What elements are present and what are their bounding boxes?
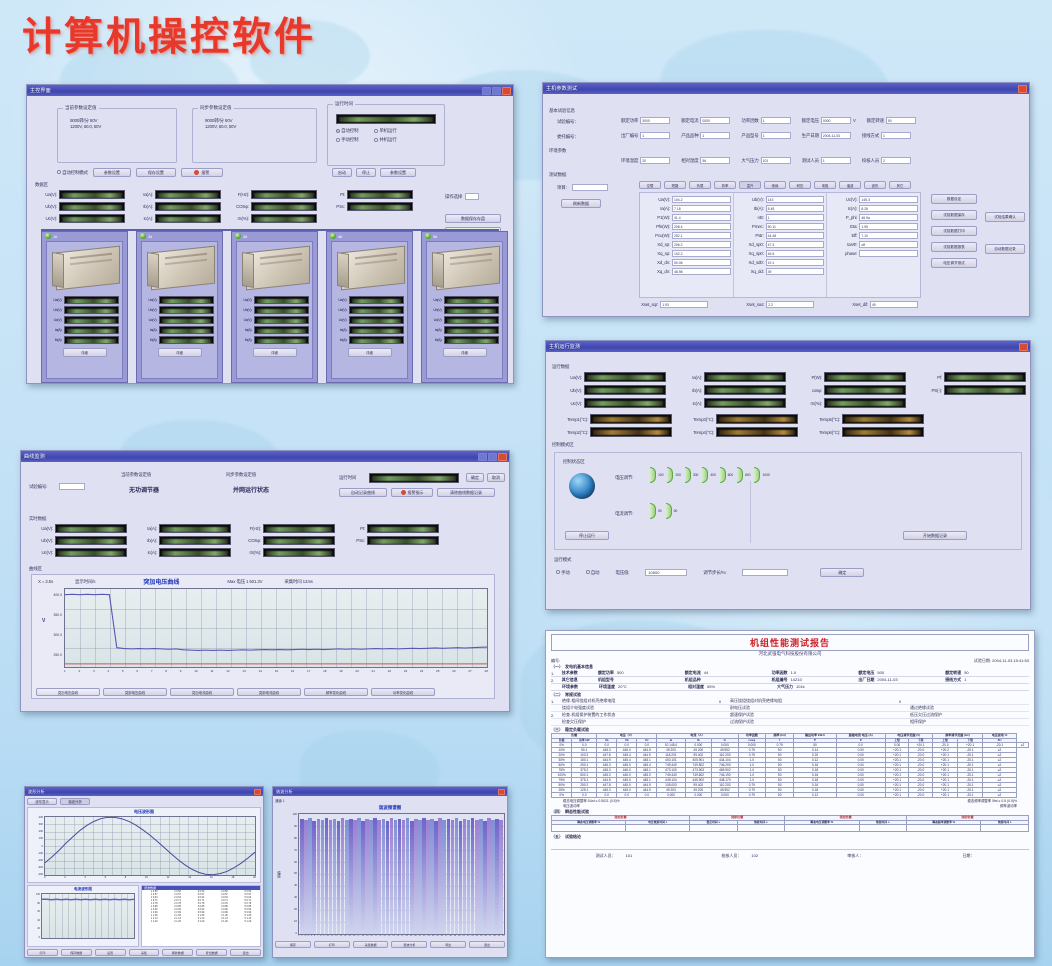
table-cell: 0.000 xyxy=(657,793,685,798)
data-label: Xq_sp: xyxy=(642,251,670,256)
channel-input[interactable] xyxy=(59,483,85,490)
unit-readout-row: Ub(V): xyxy=(430,306,499,314)
readout-column: Ua(V):Ub(V):Uc(V): xyxy=(556,372,666,408)
data-value[interactable]: 47.3 xyxy=(766,241,825,248)
data-value[interactable]: 7.10 xyxy=(859,232,918,239)
cell-value: 44 xyxy=(704,670,708,676)
waveform-button[interactable]: 刷新数据 xyxy=(162,949,193,956)
data-value[interactable]: 50.06 xyxy=(672,259,731,266)
table-cell: 1 1.20 xyxy=(143,920,165,923)
unit-readout-row: Ib(A): xyxy=(430,336,499,344)
alarm-button[interactable]: 报警 xyxy=(181,168,223,177)
radio-manual-control[interactable]: 手动控制 xyxy=(336,137,358,143)
report-row: 绕组介电强度试验耐电压试验通过绝缘试验 xyxy=(551,705,1029,712)
signature-label: 测试人员： xyxy=(596,853,616,859)
field-input[interactable]: 0000 xyxy=(821,117,851,124)
report-cell: 机组编号14Z10 xyxy=(772,677,856,683)
current-step-buttons[interactable]: 5060 xyxy=(650,503,677,519)
unit-panel[interactable]: 1#Ua(V):Ub(V):Uc(V):Ia(A):Ib(A):详细 xyxy=(41,231,128,383)
refresh-data-button[interactable]: 刷新数据 xyxy=(561,199,601,208)
readout-lcd xyxy=(584,398,666,408)
start-record-button[interactable]: 开始数据记录 xyxy=(903,531,967,540)
channel-select-row[interactable]: 通道: 1 xyxy=(275,798,505,803)
radio-manual[interactable]: 手动 xyxy=(556,570,570,576)
window-main-control[interactable]: 主控界面 当前参数设定值 9000转/分 50V 1200V, 60.0, 50… xyxy=(26,84,514,384)
unit-detail-button[interactable]: 详细 xyxy=(348,348,392,357)
project-select[interactable] xyxy=(572,184,608,191)
minimize-icon[interactable] xyxy=(478,453,487,461)
step-value: 400 xyxy=(710,473,715,477)
readout-row: F(Hz): xyxy=(231,190,317,199)
data-value[interactable]: 143 xyxy=(766,196,825,203)
operation-select[interactable] xyxy=(465,193,479,200)
action-button[interactable]: 数据设定 xyxy=(931,194,977,204)
stop-button[interactable]: 停止 xyxy=(356,168,376,177)
readout-column: Ia(A):Ib(A):Ic(A): xyxy=(137,524,231,557)
radio-icon[interactable] xyxy=(374,138,378,142)
readout-lcd xyxy=(944,372,1026,382)
footer-value[interactable]: 2.2 xyxy=(766,301,814,308)
window-title: 主控界面 xyxy=(30,87,482,94)
field-input[interactable]: 101 xyxy=(761,157,791,164)
readout-label: Ib(A): xyxy=(137,538,157,543)
x-tick: 16 xyxy=(353,935,355,937)
action-button[interactable]: 电压调节测试 xyxy=(931,258,977,268)
tab-harmonic[interactable]: 谐波分析 xyxy=(60,798,90,805)
test-tab[interactable]: 绝缘 xyxy=(764,181,786,189)
unit-readout-row: Ib(A): xyxy=(50,336,119,344)
bar xyxy=(390,818,394,934)
readout-row: Pt: xyxy=(327,190,413,199)
test-tab-strip[interactable]: 空载短路负载效率温升绝缘耐压电阻谐波波形其它 xyxy=(639,181,911,189)
y-tick: 40 xyxy=(283,884,297,887)
field-group: 额定电流0000 xyxy=(681,117,730,124)
set-a-label: 当前参数设定值 xyxy=(121,472,151,478)
data-value[interactable]: 145.3 xyxy=(859,196,918,203)
cancel-button[interactable]: 取消 xyxy=(487,473,505,482)
bracket-icon[interactable] xyxy=(666,503,672,519)
titlebar-harmonic[interactable]: 谐波分析 xyxy=(273,787,507,796)
bar xyxy=(337,821,341,934)
x-tick: 18 xyxy=(231,876,234,879)
bracket-icon[interactable] xyxy=(754,467,760,483)
chart-y-axis: 4003002001000-100-200-300-400 xyxy=(30,816,44,876)
readout-label: COSφ: xyxy=(231,204,249,209)
checkbox-auto-mode[interactable]: 自动控制模式 xyxy=(57,170,88,176)
harmonic-button[interactable]: 退出 xyxy=(469,941,505,948)
window-run-monitor[interactable]: 主机运行监测 运行数据 Ua(V):Ub(V):Uc(V):Ia(A):Ib(A… xyxy=(545,340,1031,610)
test-tab[interactable]: 温升 xyxy=(739,181,761,189)
test-tab[interactable]: 谐波 xyxy=(839,181,861,189)
step-value: 800 xyxy=(745,473,750,477)
tab-waveform[interactable]: 波形显示 xyxy=(27,798,57,805)
data-row: phase: xyxy=(829,250,918,257)
bracket-icon[interactable] xyxy=(685,467,691,483)
x-tick: 2 xyxy=(301,935,302,937)
status-led-icon xyxy=(425,233,431,239)
field-input[interactable]: 0000 xyxy=(700,117,730,124)
data-row: Ib(A):8.45 xyxy=(736,205,825,212)
secondary-button-column[interactable]: 试验结果确认自动数据记录 xyxy=(985,212,1025,254)
x-tick: 29 xyxy=(410,935,412,937)
data-label: nB: xyxy=(736,215,764,220)
grid-state-label: 并网运行状态 xyxy=(233,485,269,494)
test-tab[interactable]: 波形 xyxy=(864,181,886,189)
radio-icon[interactable] xyxy=(374,129,378,133)
action-button[interactable]: 试验数据报表 xyxy=(931,242,977,252)
unit-panel[interactable]: 5#Ua(V):Ub(V):Uc(V):Ia(A):Ib(A):详细 xyxy=(421,231,508,383)
auto-record-button[interactable]: 自动记录曲线 xyxy=(339,488,387,497)
readout-row: Temp1(°C): xyxy=(556,414,672,424)
data-value[interactable]: 50.11 xyxy=(766,223,825,230)
data-label: Pcu(W): xyxy=(642,233,670,238)
waveform-button[interactable]: 导出数据 xyxy=(196,949,227,956)
test-tab[interactable]: 其它 xyxy=(889,181,911,189)
chart-x-axis: 1234567891011121314151617181920212223242… xyxy=(64,668,488,673)
note-left: 电压波动率 xyxy=(563,803,580,808)
table-cell: 4 1.20 xyxy=(213,920,235,923)
chart-tab-strip[interactable]: 突加电压曲线突卸电压曲线突加电流曲线突卸电流曲线频率变化曲线功率变化曲线 xyxy=(36,688,435,696)
readout-label: P(W): xyxy=(796,375,822,380)
chart-tab[interactable]: 突卸电流曲线 xyxy=(237,688,301,696)
titlebar-curve-monitor[interactable]: 曲线监测 xyxy=(21,451,509,462)
secondary-button[interactable]: 试验结果确认 xyxy=(985,212,1025,222)
data-value[interactable]: 252.1 xyxy=(672,232,731,239)
unit-detail-button[interactable]: 详细 xyxy=(63,348,107,357)
step-control[interactable]: 800 xyxy=(737,467,750,483)
unit-name: 1# xyxy=(53,234,57,239)
action-button-column[interactable]: 数据设定试验数据保存试验数据打印试验数据报表电压调节测试 xyxy=(931,194,977,268)
field-group: 大气压力101 xyxy=(741,157,790,164)
bar xyxy=(426,820,430,934)
chart-xlabel: 显示时间/s xyxy=(75,579,95,585)
x-tick: 7 xyxy=(317,935,318,937)
close-icon[interactable] xyxy=(502,87,511,95)
table-cell: ≤2 xyxy=(983,793,1017,798)
waveform-button-row[interactable]: 打印保存数据设置采集刷新数据导出数据退出 xyxy=(27,949,261,956)
data-value[interactable]: 48.98 xyxy=(672,268,731,275)
section-test-data: 测试数据 xyxy=(549,172,566,178)
close-icon[interactable] xyxy=(498,453,507,461)
window-buttons[interactable] xyxy=(1018,85,1027,93)
window-buttons[interactable] xyxy=(482,87,511,95)
bracket-icon[interactable] xyxy=(650,467,656,483)
table-cell xyxy=(626,825,690,832)
readout-row: Temp3(°C): xyxy=(682,414,798,424)
reset-button[interactable]: 参数设置 xyxy=(380,168,416,177)
x-tick: 7 xyxy=(151,669,153,673)
unit-header: 1# xyxy=(42,232,127,240)
param-button[interactable]: 参数设置 xyxy=(93,168,131,177)
confirm-button[interactable]: 确定 xyxy=(820,568,864,577)
document-test-report[interactable]: 机组性能测试报告 河北武强电气科技股份有限公司 编号: 试验日期: 2004-1… xyxy=(545,630,1035,958)
start-button[interactable]: 启动 xyxy=(332,168,352,177)
ok-button[interactable]: 确定 xyxy=(466,473,484,482)
data-value[interactable]: 8.45 xyxy=(766,205,825,212)
readout-lcd xyxy=(159,536,231,545)
field-input[interactable]: 1 xyxy=(761,117,791,124)
data-value[interactable]: 39 xyxy=(766,268,825,275)
footer-value[interactable]: 1.93 xyxy=(660,301,708,308)
bracket-icon[interactable] xyxy=(650,503,656,519)
field-label: 校核人员 xyxy=(862,158,879,164)
readout-lcd xyxy=(59,190,125,199)
data-value[interactable]: 104.2 xyxy=(672,196,731,203)
radio-auto-control[interactable]: 自动控制 xyxy=(336,128,358,134)
x-tick: 30 xyxy=(414,935,416,937)
harmonic-data-table[interactable]: 谐波数据 1 0.502 0.503 0.504 0.505 0.501 0.5… xyxy=(141,885,261,947)
readout-column: Ua(V):Ub(V):Uc(V): xyxy=(33,524,127,557)
window-buttons[interactable] xyxy=(1019,343,1028,351)
field-label: 额定转速 xyxy=(867,118,884,124)
row-label-3: 通过绝缘试验 xyxy=(910,705,934,711)
maximize-icon[interactable] xyxy=(492,87,501,95)
waveform-button[interactable]: 打印 xyxy=(27,949,58,956)
radio-icon[interactable] xyxy=(336,129,340,133)
field-row-3: 环境温度20相对湿度56大气压力101测试人员1校核人员2 xyxy=(621,157,911,164)
radio-icon[interactable] xyxy=(556,570,560,574)
field-group: 校核人员2 xyxy=(862,157,911,164)
field-group: 额定电压0000V xyxy=(802,117,856,124)
data-value[interactable]: off xyxy=(859,241,918,248)
data-value[interactable]: 8.28 xyxy=(859,205,918,212)
data-value[interactable] xyxy=(859,250,918,257)
field-input[interactable]: 50 xyxy=(886,117,916,124)
voltage-adjust-label: 电压调节: xyxy=(615,475,633,481)
field-input[interactable]: 1 xyxy=(700,132,730,139)
x-tick: 20 xyxy=(370,935,372,937)
row-label-3: 相序保护 xyxy=(910,719,926,725)
footer-value[interactable]: 49 xyxy=(870,301,918,308)
unit-readout-row: Ua(V): xyxy=(145,296,214,304)
action-button[interactable]: 试验数据保存 xyxy=(931,210,977,220)
test-tab[interactable]: 耐压 xyxy=(789,181,811,189)
bracket-icon[interactable] xyxy=(702,467,708,483)
bar xyxy=(442,820,446,934)
table-cell xyxy=(859,825,907,832)
field-input[interactable]: 20 xyxy=(640,157,670,164)
data-label: Xq_dd: xyxy=(736,269,764,274)
signature-field: 校核人员：102 xyxy=(721,853,758,859)
close-icon[interactable] xyxy=(1019,343,1028,351)
chart-tab[interactable]: 突加电流曲线 xyxy=(170,688,234,696)
data-value[interactable]: 206.2 xyxy=(672,241,731,248)
titlebar-test-params[interactable]: 主机参数测试 xyxy=(543,83,1029,94)
unit-body: Ua(V):Ub(V):Uc(V):Ia(A):Ib(A):详细 xyxy=(141,241,218,379)
readout-lcd xyxy=(704,385,786,395)
test-tab[interactable]: 效率 xyxy=(714,181,736,189)
voltage-step-buttons[interactable]: 1002003004006008001000 xyxy=(650,467,770,483)
signature-value: 102 xyxy=(751,853,758,859)
close-icon[interactable] xyxy=(498,789,505,795)
unit-panel[interactable]: 2#Ua(V):Ub(V):Uc(V):Ia(A):Ib(A):详细 xyxy=(136,231,223,383)
test-tab[interactable]: 短路 xyxy=(664,181,686,189)
x-tick: 8 xyxy=(320,935,321,937)
data-value[interactable]: 19.1 xyxy=(766,259,825,266)
data-value[interactable]: 41.4 xyxy=(672,214,731,221)
readout-lcd xyxy=(824,372,906,382)
report-cell: 额定转速50 xyxy=(945,670,1029,676)
readout-lcd xyxy=(704,398,786,408)
table-cell: ≤2 xyxy=(1016,743,1028,748)
titlebar-waveform[interactable]: 波形分析 xyxy=(25,787,263,796)
field-input[interactable]: 3000 xyxy=(640,117,670,124)
channel-label: 试验编号: xyxy=(29,484,47,490)
waveform-button[interactable]: 保存数据 xyxy=(61,949,92,956)
chart-tab[interactable]: 突卸电压曲线 xyxy=(103,688,167,696)
unit-readout-lcd xyxy=(159,306,214,314)
bracket-icon[interactable] xyxy=(737,467,743,483)
waveform-button[interactable]: 采集 xyxy=(129,949,160,956)
alarm-indicator-button[interactable]: 报警指示 xyxy=(391,488,433,497)
titlebar-main-control[interactable]: 主控界面 xyxy=(27,85,513,96)
chart-tab[interactable]: 频率变化曲线 xyxy=(304,688,368,696)
harmonic-button[interactable]: 谐波分析 xyxy=(391,941,427,948)
data-value[interactable]: 44.48 xyxy=(766,232,825,239)
save-button[interactable]: 保存设置 xyxy=(136,168,176,177)
data-row: Xd_sp:206.2 xyxy=(642,241,731,248)
window-test-params[interactable]: 主机参数测试 基本试验信息 试验编号： 额定功率3000额定电流0000功率因数… xyxy=(542,82,1030,317)
step-control[interactable]: 1000 xyxy=(754,467,769,483)
radio-single-run[interactable]: 单机运行 xyxy=(374,128,396,134)
field-input[interactable]: 1 xyxy=(821,157,851,164)
window-buttons[interactable] xyxy=(498,789,505,795)
window-buttons[interactable] xyxy=(254,789,261,795)
cell-value: 55% xyxy=(707,684,715,690)
field-input[interactable]: 2004-11-03 xyxy=(821,132,851,139)
bar xyxy=(430,819,434,934)
titlebar-run-monitor[interactable]: 主机运行监测 xyxy=(546,341,1030,352)
field-input[interactable]: 1 xyxy=(640,132,670,139)
secondary-button[interactable]: 自动数据记录 xyxy=(985,244,1025,254)
data-value[interactable]: 1 xyxy=(766,214,825,221)
field-unit: V xyxy=(853,118,856,123)
minimize-icon[interactable] xyxy=(482,87,491,95)
chart-tab[interactable]: 功率变化曲线 xyxy=(371,688,435,696)
step-control[interactable]: 60 xyxy=(666,503,678,519)
unit-detail-button[interactable]: 详细 xyxy=(253,348,297,357)
unit-panel[interactable]: 4#Ua(V):Ub(V):Uc(V):Ia(A):Ib(A):详细 xyxy=(326,231,413,383)
test-tab[interactable]: 电阻 xyxy=(814,181,836,189)
unit-readout-row: Ib(A): xyxy=(145,336,214,344)
chart-tab[interactable]: 突加电压曲线 xyxy=(36,688,100,696)
test-tab[interactable]: 负载 xyxy=(689,181,711,189)
data-value[interactable]: 45.5 xyxy=(766,250,825,257)
harmonic-button-row[interactable]: 保存打印采集数据谐波分析导出退出 xyxy=(275,941,505,948)
data-value[interactable]: 102.2 xyxy=(672,250,731,257)
step-control[interactable]: 300 xyxy=(685,467,698,483)
action-button[interactable]: 试验数据打印 xyxy=(931,226,977,236)
readout-column: Pf:PS(-): xyxy=(916,372,1026,408)
readout-lcd xyxy=(55,548,127,557)
window-waveform[interactable]: 波形分析 波形显示 谐波分析 电压波形图 4003002001000-100-2… xyxy=(24,786,264,958)
readout-row: Ic(A): xyxy=(676,398,786,408)
field-input[interactable]: 2 xyxy=(881,157,911,164)
bar xyxy=(357,818,361,934)
voltage-value-input[interactable]: 10500 xyxy=(645,569,687,576)
x-tick: 43 xyxy=(471,935,473,937)
chart-x-marker: X = 2.5s xyxy=(38,579,53,584)
clear-records-button[interactable]: 清除曲线数据记录 xyxy=(437,488,495,497)
table-cell: +20.1 xyxy=(932,793,957,798)
step-control[interactable]: 400 xyxy=(702,467,715,483)
waveform-button[interactable]: 设置 xyxy=(95,949,126,956)
x-tick: 25 xyxy=(436,669,439,673)
unit-detail-button[interactable]: 详细 xyxy=(443,348,487,357)
checkbox-icon[interactable] xyxy=(57,170,61,174)
bar xyxy=(499,820,503,934)
step-control[interactable]: 600 xyxy=(720,467,733,483)
unit-panel[interactable]: 3#Ua(V):Ub(V):Uc(V):Ia(A):Ib(A):详细 xyxy=(231,231,318,383)
unit-readout-row: Ua(V): xyxy=(430,296,499,304)
x-tick: 13 xyxy=(340,935,342,937)
step-control[interactable]: 100 xyxy=(650,467,663,483)
data-value[interactable]: 1.95 xyxy=(859,223,918,230)
window-harmonic[interactable]: 谐波分析 通道: 1 谐波频谱图 幅值 10090807060504030201… xyxy=(272,786,508,958)
readout-column: Temp1(°C):Temp2(°C): xyxy=(556,414,672,437)
readout-row: Temp6(°C): xyxy=(808,427,924,437)
data-value[interactable]: 7.18 xyxy=(672,205,731,212)
test-tab[interactable]: 空载 xyxy=(639,181,661,189)
chart-y-axis: 1009080706050403020100 xyxy=(283,813,298,935)
harmonic-button[interactable]: 采集数据 xyxy=(353,941,389,948)
x-tick: 44 xyxy=(476,935,478,937)
bar xyxy=(317,819,321,934)
radio-parallel-run[interactable]: 并机运行 xyxy=(374,137,396,143)
stop-run-button[interactable]: 停止运行 xyxy=(565,531,609,540)
readout-lcd xyxy=(155,190,221,199)
waveform-button[interactable]: 退出 xyxy=(230,949,261,956)
step-control[interactable]: 50 xyxy=(650,503,662,519)
current-svg xyxy=(42,894,134,938)
close-icon[interactable] xyxy=(254,789,261,795)
data-label: Pmec: xyxy=(736,224,764,229)
window-buttons[interactable] xyxy=(478,453,507,461)
harmonic-button[interactable]: 导出 xyxy=(430,941,466,948)
chart-panel: X = 2.5s 显示时间/s 突加电压曲线 Max 电压 1 501.3V 采… xyxy=(31,574,495,699)
radio-auto[interactable]: 自动 xyxy=(586,570,600,576)
bracket-icon[interactable] xyxy=(667,467,673,483)
window-title: 谐波分析 xyxy=(276,789,498,795)
unit-readout-label: Uc(V): xyxy=(335,318,347,322)
maximize-icon[interactable] xyxy=(488,453,497,461)
bracket-icon[interactable] xyxy=(720,467,726,483)
x-tick: 12 xyxy=(335,935,337,937)
field-input[interactable]: 1 xyxy=(761,132,791,139)
x-tick: 4 xyxy=(308,935,309,937)
radio-icon[interactable] xyxy=(586,570,590,574)
x-tick: 14 xyxy=(344,935,346,937)
harmonic-button[interactable]: 打印 xyxy=(314,941,350,948)
save-data-button[interactable]: 数据保存存盘 xyxy=(445,214,501,223)
step-control[interactable]: 200 xyxy=(667,467,680,483)
field-label: 额定电压 xyxy=(802,118,819,124)
unit-detail-button[interactable]: 详细 xyxy=(158,348,202,357)
harmonic-button[interactable]: 保存 xyxy=(275,941,311,948)
window-curve-monitor[interactable]: 曲线监测 试验编号: 当前参数设定值 无功调节器 同步参数设定值 并网运行状态 … xyxy=(20,450,510,712)
step-input[interactable] xyxy=(742,569,788,576)
data-value[interactable]: 46.9a xyxy=(859,214,918,221)
radio-icon[interactable] xyxy=(336,138,340,142)
data-value[interactable]: 208.4 xyxy=(672,223,731,230)
field-input[interactable]: 1 xyxy=(881,132,911,139)
field-input[interactable]: 56 xyxy=(700,157,730,164)
unit-readout-row: Ua(V): xyxy=(240,296,309,304)
alarm-label: 报警指示 xyxy=(408,490,424,496)
bar xyxy=(495,819,499,934)
alarm-icon xyxy=(194,170,199,175)
close-icon[interactable] xyxy=(1018,85,1027,93)
